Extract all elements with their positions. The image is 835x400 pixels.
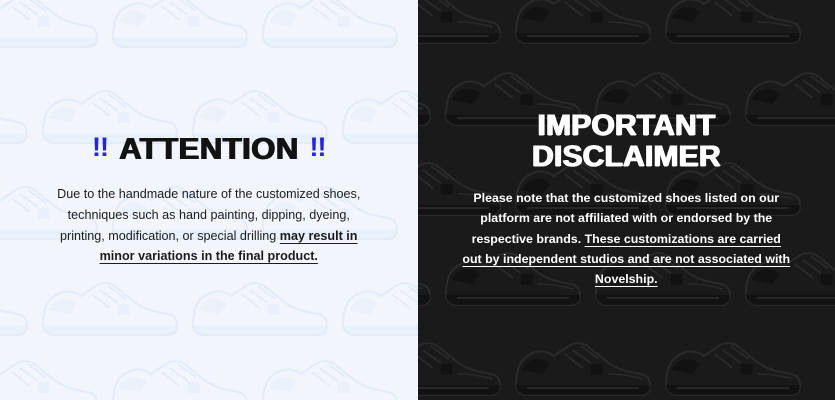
disclaimer-content: IMPORTANT DISCLAIMER Please note that th…	[418, 0, 835, 400]
disclaimer-panel: IMPORTANT DISCLAIMER Please note that th…	[418, 0, 835, 400]
attention-heading-text: ATTENTION	[119, 133, 299, 164]
attention-content: !! ATTENTION !! Due to the handmade natu…	[0, 0, 418, 400]
double-exclamation-right-icon: !!	[310, 134, 326, 161]
promo-banner: !! ATTENTION !! Due to the handmade natu…	[0, 0, 835, 400]
attention-heading: !! ATTENTION !!	[92, 133, 326, 164]
double-exclamation-left-icon: !!	[92, 134, 108, 161]
disclaimer-heading-line-1: IMPORTANT	[532, 111, 721, 142]
disclaimer-body: Please note that the customized shoes li…	[462, 188, 790, 288]
attention-panel: !! ATTENTION !! Due to the handmade natu…	[0, 0, 418, 400]
disclaimer-heading: IMPORTANT DISCLAIMER	[532, 111, 721, 172]
disclaimer-heading-line-2: DISCLAIMER	[532, 142, 721, 173]
attention-body: Due to the handmade nature of the custom…	[48, 184, 370, 267]
